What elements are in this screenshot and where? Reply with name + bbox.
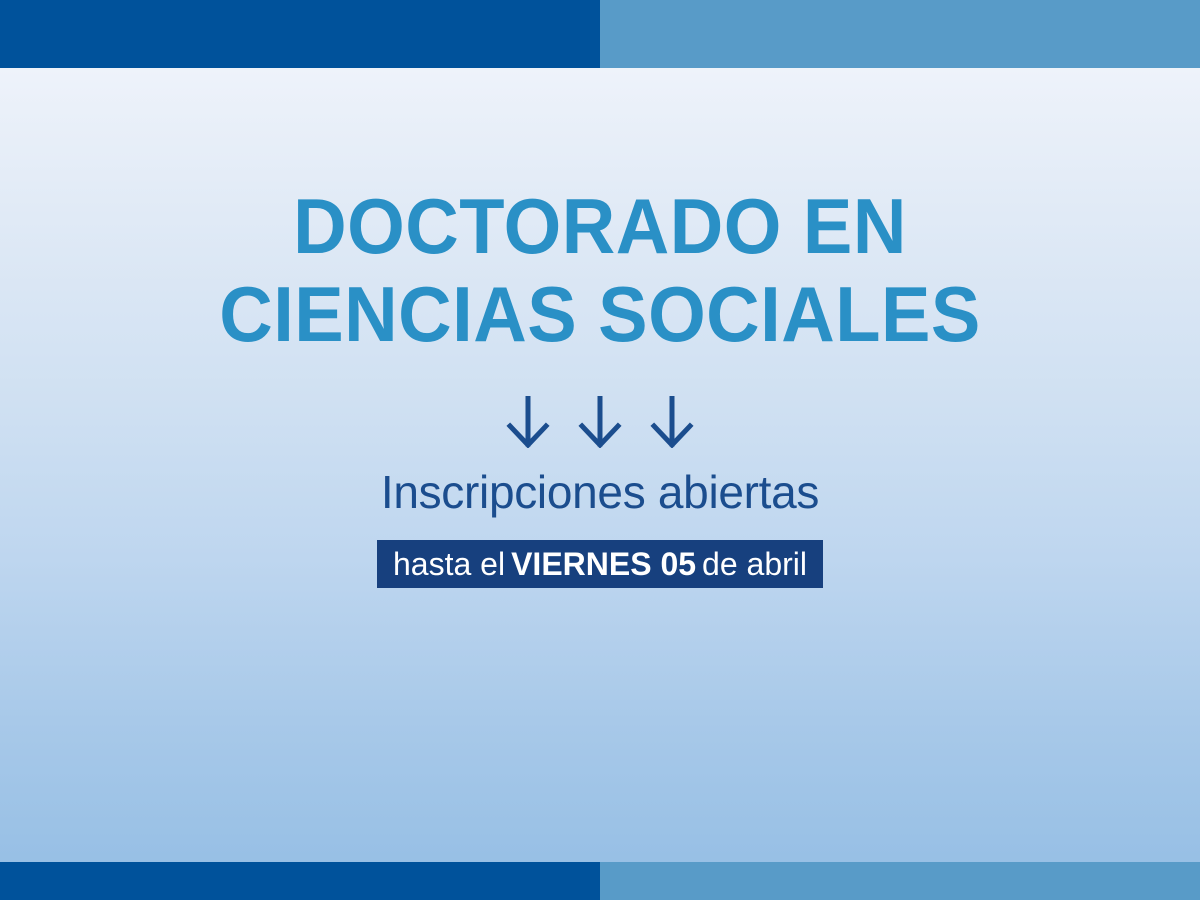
subtitle-text: Inscripciones abiertas bbox=[0, 466, 1200, 518]
deadline-suffix: de abril bbox=[702, 540, 807, 588]
deadline-badge-wrapper: hasta el VIERNES 05 de abril bbox=[0, 540, 1200, 588]
top-decorative-bar bbox=[0, 0, 1200, 68]
top-bar-right-block bbox=[600, 0, 1200, 68]
bottom-bar-right-block bbox=[600, 862, 1200, 900]
poster-canvas: DOCTORADO EN CIENCIAS SOCIALES Inscripci… bbox=[0, 0, 1200, 900]
arrow-down-icon bbox=[504, 396, 552, 448]
bottom-decorative-bar bbox=[0, 862, 1200, 900]
deadline-prefix: hasta el bbox=[393, 540, 505, 588]
arrow-down-group bbox=[0, 396, 1200, 448]
arrow-down-icon bbox=[576, 396, 624, 448]
page-title-line-2: CIENCIAS SOCIALES bbox=[30, 270, 1170, 358]
arrow-down-icon bbox=[648, 396, 696, 448]
deadline-badge: hasta el VIERNES 05 de abril bbox=[377, 540, 823, 588]
logo-strip: Facultad de Ciencias Sociales DCS CLEH -… bbox=[0, 700, 1200, 810]
top-bar-left-block bbox=[0, 0, 600, 68]
page-title-line-1: DOCTORADO EN bbox=[30, 182, 1170, 270]
bottom-bar-left-block bbox=[0, 862, 600, 900]
page-title: DOCTORADO EN CIENCIAS SOCIALES bbox=[30, 182, 1170, 358]
deadline-emphasis: VIERNES 05 bbox=[505, 540, 702, 588]
